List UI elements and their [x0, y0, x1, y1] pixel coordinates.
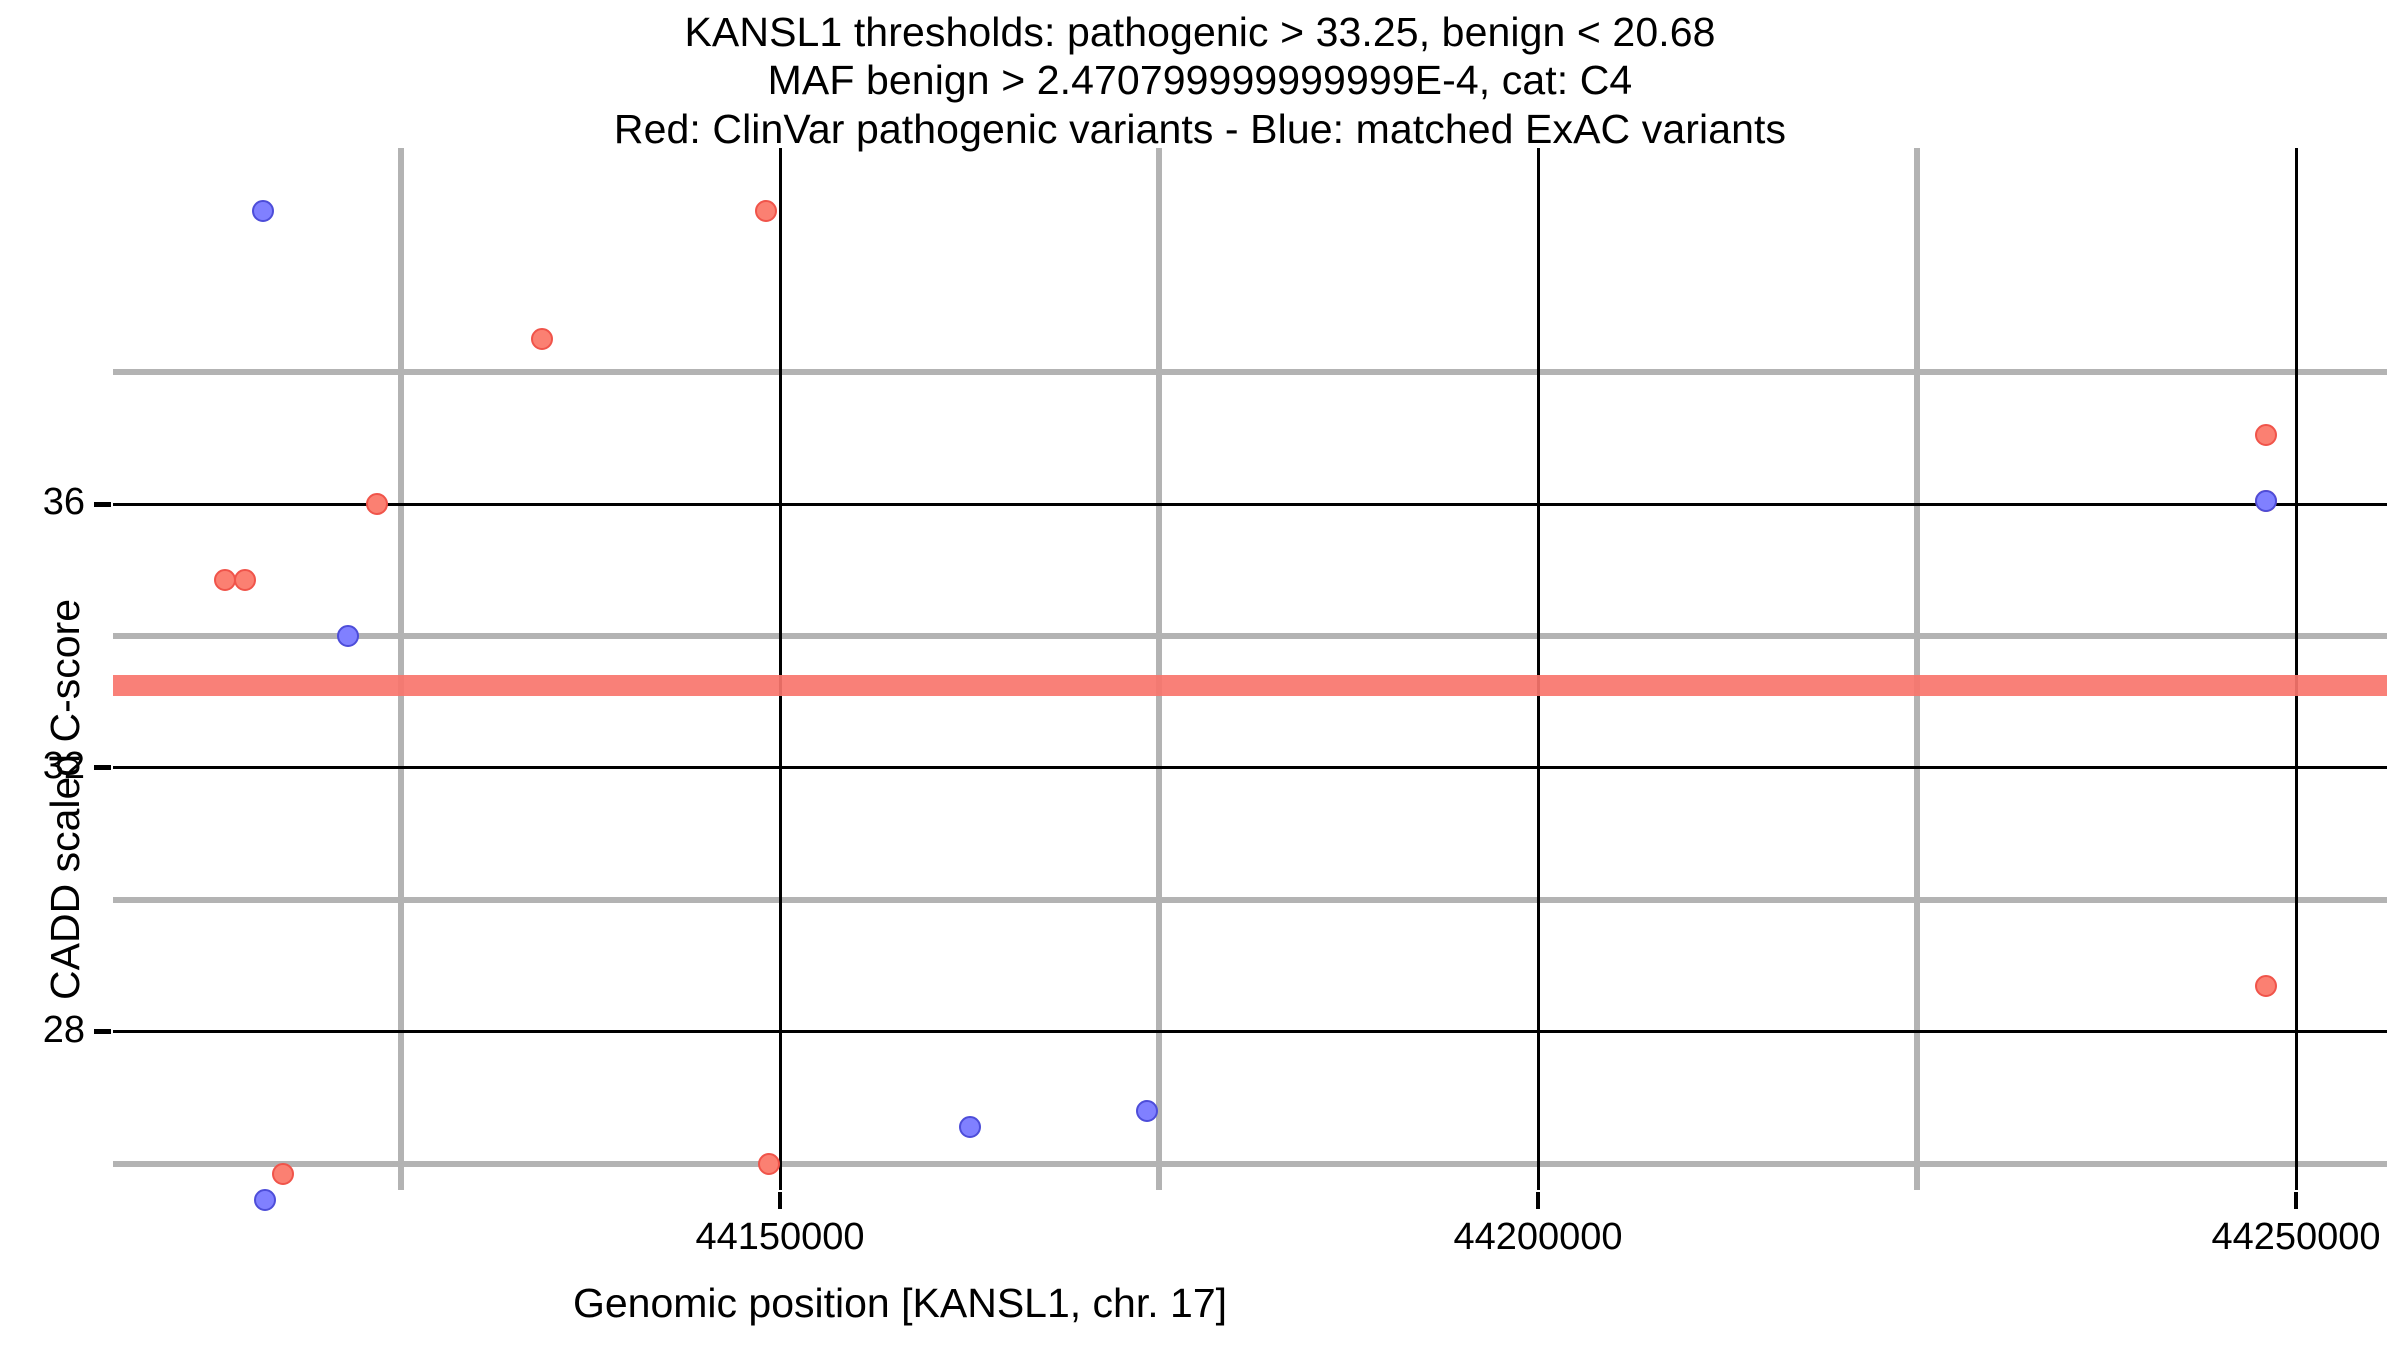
gridline-horizontal-minor [113, 633, 2387, 639]
data-point-pathogenic [531, 328, 553, 350]
title-line-thresholds: KANSL1 thresholds: pathogenic > 33.25, b… [0, 8, 2400, 56]
chart-canvas: KANSL1 thresholds: pathogenic > 33.25, b… [0, 0, 2400, 1350]
y-axis-title: CADD scaled C-score [42, 599, 89, 1000]
data-point-pathogenic [2255, 424, 2277, 446]
data-point-exac [2255, 490, 2277, 512]
x-axis-title: Genomic position [KANSL1, chr. 17] [0, 1280, 1800, 1327]
data-point-pathogenic [755, 200, 777, 222]
data-point-exac [959, 1116, 981, 1138]
y-tick-mark [94, 502, 111, 507]
gridline-horizontal-major [113, 503, 2387, 506]
gridline-vertical-minor [398, 148, 404, 1190]
x-tick-label: 44150000 [695, 1216, 864, 1259]
data-point-exac [1136, 1100, 1158, 1122]
chart-title: KANSL1 thresholds: pathogenic > 33.25, b… [0, 8, 2400, 153]
data-point-pathogenic [366, 493, 388, 515]
gridline-vertical-minor [1156, 148, 1162, 1190]
gridline-horizontal-minor [113, 897, 2387, 903]
data-point-pathogenic [758, 1153, 780, 1175]
gridline-horizontal-major [113, 1030, 2387, 1033]
x-tick-label: 44200000 [1453, 1216, 1622, 1259]
y-tick-label: 28 [43, 1009, 85, 1052]
data-point-exac [337, 625, 359, 647]
x-tick-label: 44250000 [2211, 1216, 2380, 1259]
gridline-horizontal-minor [113, 369, 2387, 375]
data-point-exac [252, 200, 274, 222]
data-point-pathogenic [2255, 975, 2277, 997]
data-point-pathogenic [272, 1163, 294, 1185]
y-tick-label: 32 [43, 745, 85, 788]
gridline-vertical-major [1537, 148, 1540, 1190]
data-point-pathogenic [234, 569, 256, 591]
gridline-vertical-major [779, 148, 782, 1190]
gridline-vertical-major [2295, 148, 2298, 1190]
pathogenic-threshold-band [113, 675, 2387, 696]
y-tick-label: 36 [43, 481, 85, 524]
gridline-vertical-minor [1914, 148, 1920, 1190]
y-tick-mark [94, 765, 111, 770]
data-point-pathogenic [214, 569, 236, 591]
gridline-horizontal-minor [113, 1161, 2387, 1167]
data-point-exac [254, 1189, 276, 1211]
x-tick-mark [778, 1192, 782, 1209]
title-line-legend: Red: ClinVar pathogenic variants - Blue:… [0, 105, 2400, 153]
plot-area [113, 148, 2387, 1190]
title-line-maf: MAF benign > 2.470799999999999E-4, cat: … [0, 56, 2400, 104]
x-tick-mark [2294, 1192, 2298, 1209]
y-tick-mark [94, 1029, 111, 1034]
gridline-horizontal-major [113, 766, 2387, 769]
x-tick-mark [1536, 1192, 1540, 1209]
